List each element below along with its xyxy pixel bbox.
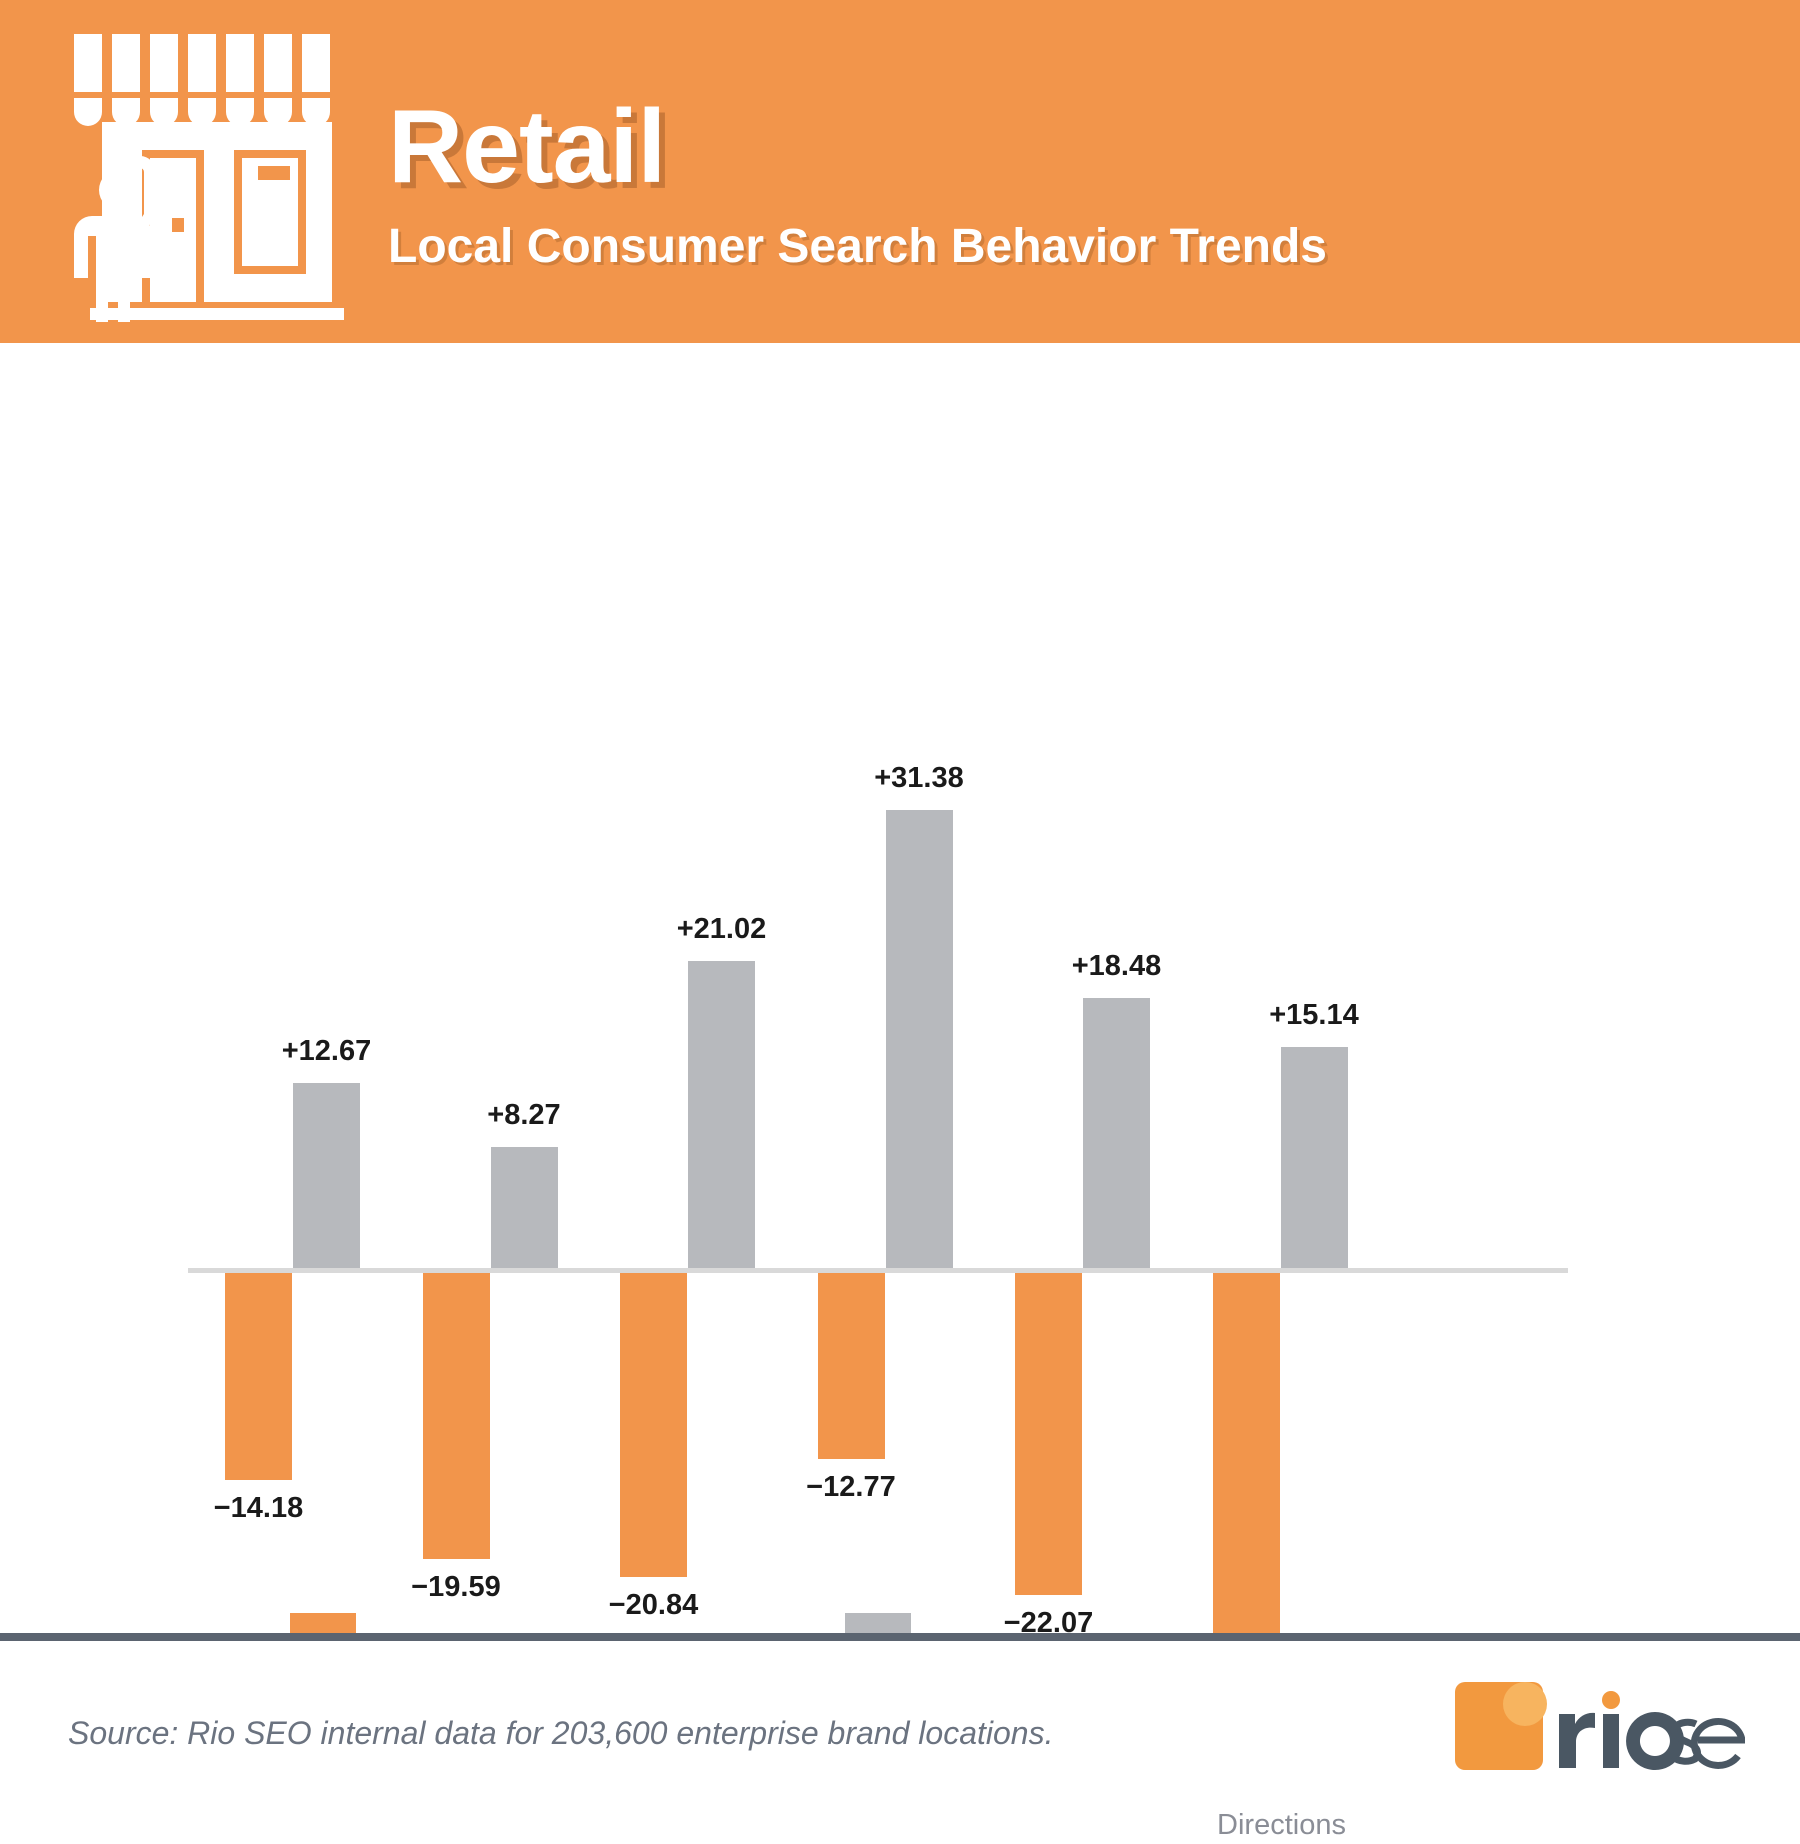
bar-value-label-positive: +21.02 (622, 913, 822, 946)
page-title: Retail (388, 95, 1327, 199)
bar-positive (688, 961, 755, 1268)
footer-divider (0, 1633, 1800, 1641)
bar-positive (886, 810, 953, 1268)
chart-container: +12.67−14.18+8.27−19.59+21.02−20.84+31.3… (0, 343, 1800, 1633)
page-subtitle: Local Consumer Search Behavior Trends (388, 221, 1327, 273)
bar-negative (423, 1273, 490, 1559)
bar-negative (225, 1273, 292, 1480)
bar-value-label-positive: +18.48 (1017, 950, 1217, 983)
bar-negative (818, 1273, 885, 1459)
bar-value-label-positive: +31.38 (819, 762, 1019, 795)
bar-value-label-negative: −19.59 (356, 1571, 556, 1604)
plot-area: +12.67−14.18+8.27−19.59+21.02−20.84+31.3… (0, 343, 1800, 1383)
header-title-block: Retail Local Consumer Search Behavior Tr… (388, 95, 1327, 273)
bar-positive (491, 1147, 558, 1268)
bar-value-label-positive: +12.67 (227, 1035, 427, 1068)
bar-positive (293, 1083, 360, 1268)
bar-negative (620, 1273, 687, 1577)
bar-negative (1015, 1273, 1082, 1595)
bar-value-label-positive: +8.27 (424, 1099, 624, 1132)
rio-seo-logo (1455, 1676, 1745, 1776)
bar-value-label-negative: −14.18 (159, 1492, 359, 1525)
bar-value-label-positive: +15.14 (1214, 999, 1414, 1032)
bar-value-label-negative: −12.77 (751, 1471, 951, 1504)
storefront-icon (54, 22, 354, 322)
source-note: Source: Rio SEO internal data for 203,60… (68, 1715, 1053, 1752)
header-banner: Retail Local Consumer Search Behavior Tr… (0, 0, 1800, 343)
bar-positive (1083, 998, 1150, 1268)
bar-positive (1281, 1047, 1348, 1268)
bar-negative (1213, 1273, 1280, 1652)
